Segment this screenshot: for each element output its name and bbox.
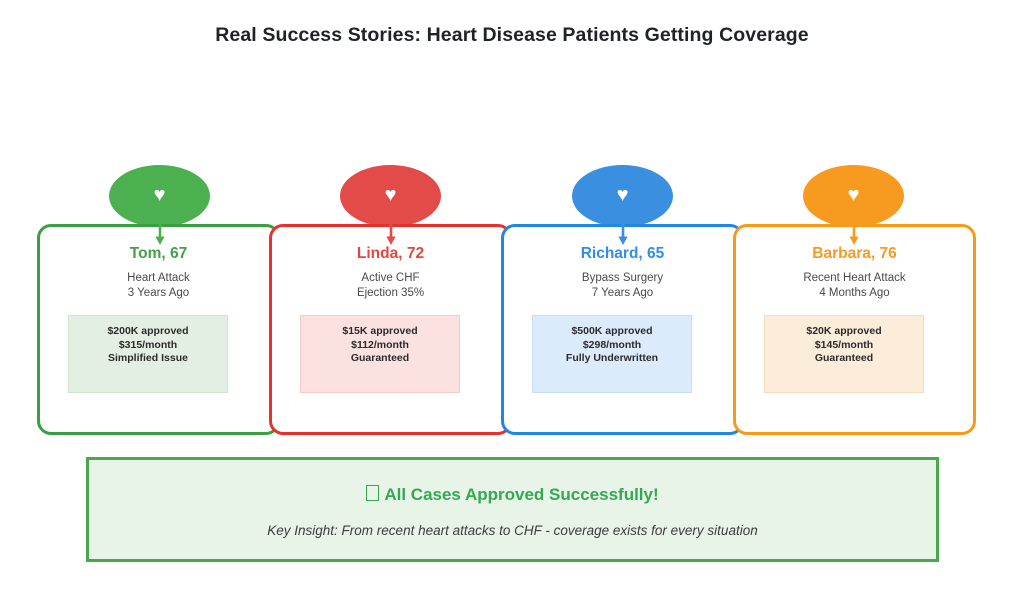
case-badge-4: ♥ (803, 165, 904, 227)
case-card-3[interactable]: Richard, 65Bypass Surgery7 Years Ago$500… (501, 224, 744, 435)
case-name-row: Linda, 72 (272, 245, 509, 267)
case-name: Tom, 67 (40, 245, 277, 263)
case-result-line1: $200K approved (69, 325, 227, 339)
case-result-line2: $298/month (533, 339, 691, 353)
case-result-line2: $112/month (301, 339, 459, 353)
case-result-line2: $145/month (765, 339, 923, 353)
case-condition: Recent Heart Attack4 Months Ago (736, 271, 973, 301)
case-result-box: $15K approved$112/monthGuaranteed (300, 315, 460, 393)
summary-insight-text: Key Insight: From recent heart attacks t… (89, 523, 936, 538)
case-result-line3: Simplified Issue (69, 352, 227, 366)
case-condition-line2: 3 Years Ago (40, 286, 277, 301)
case-arrow-1 (153, 222, 167, 246)
case-result-line1: $20K approved (765, 325, 923, 339)
heart-icon: ♥ (848, 185, 860, 205)
case-badge-1: ♥ (109, 165, 210, 227)
heart-icon: ♥ (617, 185, 629, 205)
summary-banner: All Cases Approved Successfully! Key Ins… (86, 457, 939, 562)
case-condition-line1: Active CHF (272, 271, 509, 286)
case-card-4[interactable]: Barbara, 76Recent Heart Attack4 Months A… (733, 224, 976, 435)
case-card-2[interactable]: Linda, 72Active CHFEjection 35%$15K appr… (269, 224, 512, 435)
case-name-row: Barbara, 76 (736, 245, 973, 267)
case-condition: Bypass Surgery7 Years Ago (504, 271, 741, 301)
summary-headline: All Cases Approved Successfully! (89, 485, 936, 505)
case-name-row: Richard, 65 (504, 245, 741, 267)
case-name: Barbara, 76 (736, 245, 973, 263)
case-result-box: $200K approved$315/monthSimplified Issue (68, 315, 228, 393)
case-name: Richard, 65 (504, 245, 741, 263)
case-badge-2: ♥ (340, 165, 441, 227)
case-arrow-2 (384, 222, 398, 246)
case-condition-line1: Heart Attack (40, 271, 277, 286)
case-name: Linda, 72 (272, 245, 509, 263)
case-condition-line2: 7 Years Ago (504, 286, 741, 301)
case-condition-line2: Ejection 35% (272, 286, 509, 301)
case-condition: Active CHFEjection 35% (272, 271, 509, 301)
case-condition-line2: 4 Months Ago (736, 286, 973, 301)
case-card-1[interactable]: Tom, 67Heart Attack3 Years Ago$200K appr… (37, 224, 280, 435)
missing-glyph-box-icon (366, 485, 379, 501)
case-condition-line1: Bypass Surgery (504, 271, 741, 286)
case-result-box: $500K approved$298/monthFully Underwritt… (532, 315, 692, 393)
case-result-box: $20K approved$145/monthGuaranteed (764, 315, 924, 393)
case-result-line1: $15K approved (301, 325, 459, 339)
case-arrow-3 (616, 222, 630, 246)
case-condition-line1: Recent Heart Attack (736, 271, 973, 286)
case-result-line1: $500K approved (533, 325, 691, 339)
heart-icon: ♥ (154, 185, 166, 205)
case-arrow-4 (847, 222, 861, 246)
case-condition: Heart Attack3 Years Ago (40, 271, 277, 301)
case-badge-3: ♥ (572, 165, 673, 227)
case-result-line2: $315/month (69, 339, 227, 353)
case-result-line3: Guaranteed (765, 352, 923, 366)
case-result-line3: Guaranteed (301, 352, 459, 366)
case-result-line3: Fully Underwritten (533, 352, 691, 366)
heart-icon: ♥ (385, 185, 397, 205)
case-name-row: Tom, 67 (40, 245, 277, 267)
summary-headline-text: All Cases Approved Successfully! (384, 485, 658, 504)
